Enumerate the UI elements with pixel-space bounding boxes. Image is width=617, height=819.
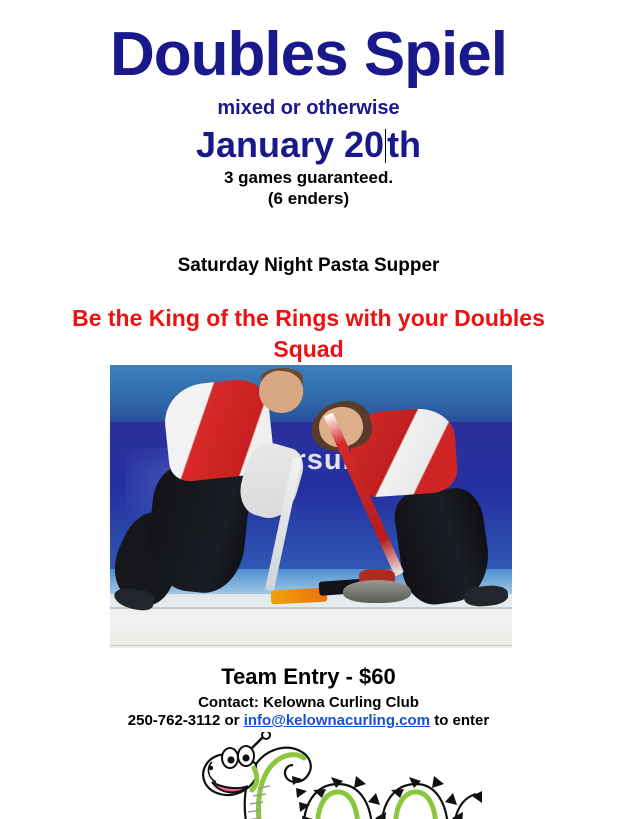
event-date-prefix: January 20 — [196, 124, 384, 165]
event-date: January 20th — [196, 126, 421, 164]
phone-line: 250-762-3112 or info@kelownacurling.com … — [0, 712, 617, 729]
page-title: Doubles Spiel — [0, 0, 617, 86]
curling-stone — [343, 580, 411, 603]
event-date-row: January 20th — [0, 118, 617, 164]
poster-page: Doubles Spiel mixed or otherwise January… — [0, 0, 617, 819]
subtitle: mixed or otherwise — [0, 98, 617, 118]
tagline-text: Be the King of the Rings with your Doubl… — [59, 303, 559, 365]
phone-number: 250-762-3112 or — [128, 712, 240, 729]
pasta-supper-text: Saturday Night Pasta Supper — [0, 255, 617, 277]
contact-text: Contact: Kelowna Curling Club — [0, 694, 617, 711]
curling-photo: Östersund — [110, 365, 512, 648]
team-entry-text: Team Entry - $60 — [0, 664, 617, 690]
email-link[interactable]: info@kelownacurling.com — [244, 712, 430, 729]
text-cursor — [385, 129, 386, 163]
enders-text: (6 enders) — [0, 189, 617, 209]
ogopogo-mascot-icon — [186, 732, 486, 819]
event-date-suffix: th — [387, 124, 421, 165]
curling-photo-image: Östersund — [110, 365, 512, 648]
headline-block: Doubles Spiel mixed or otherwise January… — [0, 0, 617, 365]
phone-suffix: to enter — [434, 712, 489, 729]
games-guaranteed-text: 3 games guaranteed. — [0, 168, 617, 188]
